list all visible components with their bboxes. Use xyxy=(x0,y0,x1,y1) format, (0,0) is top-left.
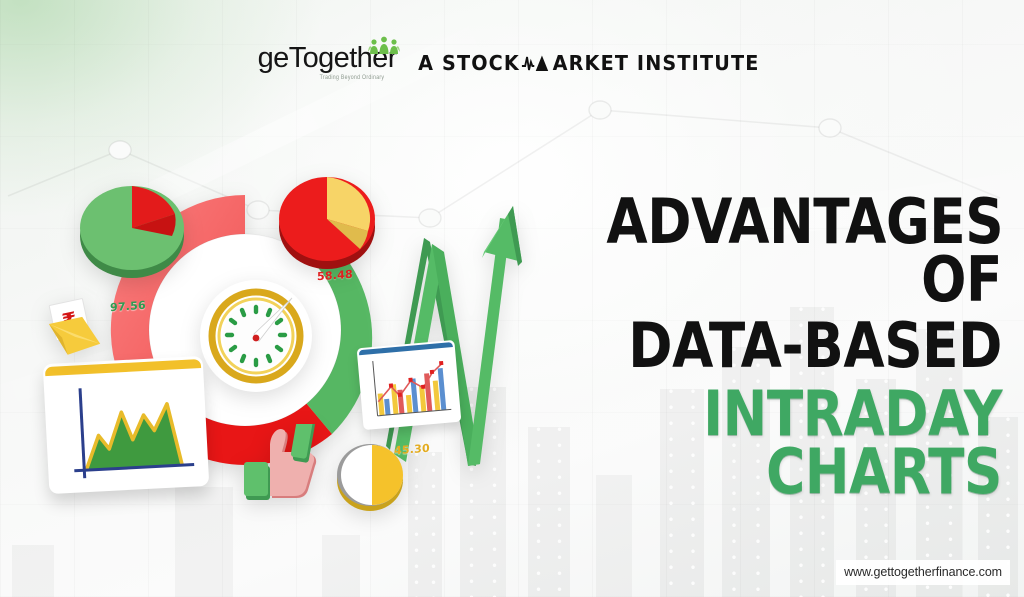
logo-subtitle-after: ARKET INSTITUTE xyxy=(552,51,759,75)
logo-subtitle-before: A STOCK xyxy=(418,51,520,75)
logo-gettogether[interactable]: geTogether Trading Be xyxy=(258,44,397,81)
headline: ADVANTAGES OF DATA-BASED INTRADAY CHARTS xyxy=(542,193,1002,500)
speedometer-gauge[interactable] xyxy=(196,276,316,392)
logo-subtitle: A STOCK ARKET INSTITUTE xyxy=(418,51,759,75)
headline-line-3: INTRADAY CHARTS xyxy=(606,385,1002,500)
website-url[interactable]: www.gettogetherfinance.com xyxy=(836,560,1010,585)
banner-root: geTogether Trading Be xyxy=(0,0,1024,597)
bar-chart-icon xyxy=(362,349,456,424)
headline-line-2: DATA-BASED xyxy=(606,317,1002,375)
hero-illustration: ₹ 97.56 58.48 45.30 xyxy=(0,0,560,597)
value-label-2: 58.48 xyxy=(317,268,353,284)
tablet-area-chart[interactable] xyxy=(43,356,210,494)
headline-line-1: ADVANTAGES OF xyxy=(606,193,1002,308)
envelope-rupee[interactable]: ₹ xyxy=(38,286,118,360)
logo-tagline: Trading Beyond Ordinary xyxy=(320,75,397,82)
value-label-1: 97.56 xyxy=(110,299,146,315)
logo-word-part1: ge xyxy=(258,42,289,74)
heartbeat-pulse-icon xyxy=(522,53,551,73)
brand-header: geTogether Trading Be xyxy=(0,44,1024,81)
logo-word-cap: T xyxy=(289,42,303,74)
website-url-text: www.gettogetherfinance.com xyxy=(844,565,1002,579)
tablet-bar-chart[interactable] xyxy=(357,340,462,430)
logo-wordmark: geTogether xyxy=(258,44,397,73)
pie-chart-green-red xyxy=(72,174,192,284)
three-people-icon xyxy=(367,35,401,55)
area-chart-icon xyxy=(54,372,199,483)
thumbs-up[interactable] xyxy=(238,424,328,506)
value-label-3: 45.30 xyxy=(394,442,430,458)
pie-chart-red-yellow xyxy=(272,165,382,273)
